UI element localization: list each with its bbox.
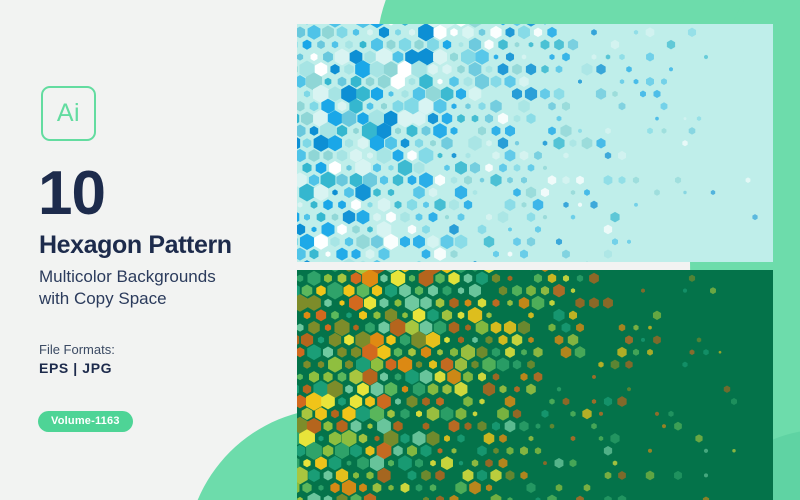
green-hexagon-preview[interactable] [297,270,773,500]
subtitle-line-1: Multicolor Backgrounds [39,266,289,288]
file-formats-label: File Formats: [39,342,115,357]
info-column: Ai 10 Hexagon Pattern Multicolor Backgro… [36,0,286,500]
poster-canvas: Ai 10 Hexagon Pattern Multicolor Backgro… [0,0,800,500]
file-formats-value: EPS | JPG [39,360,112,376]
green-hexagon-pattern [297,270,773,500]
adobe-illustrator-icon: Ai [41,86,96,141]
page-title: Hexagon Pattern [39,233,232,258]
volume-badge: Volume-1163 [38,411,133,432]
subtitle-line-2: with Copy Space [39,288,289,310]
ai-badge-label: Ai [57,99,80,128]
page-subtitle: Multicolor Backgrounds with Copy Space [39,266,289,310]
blue-hexagon-pattern [297,24,773,262]
item-count: 10 [38,163,105,225]
blue-hexagon-preview[interactable] [297,24,773,262]
